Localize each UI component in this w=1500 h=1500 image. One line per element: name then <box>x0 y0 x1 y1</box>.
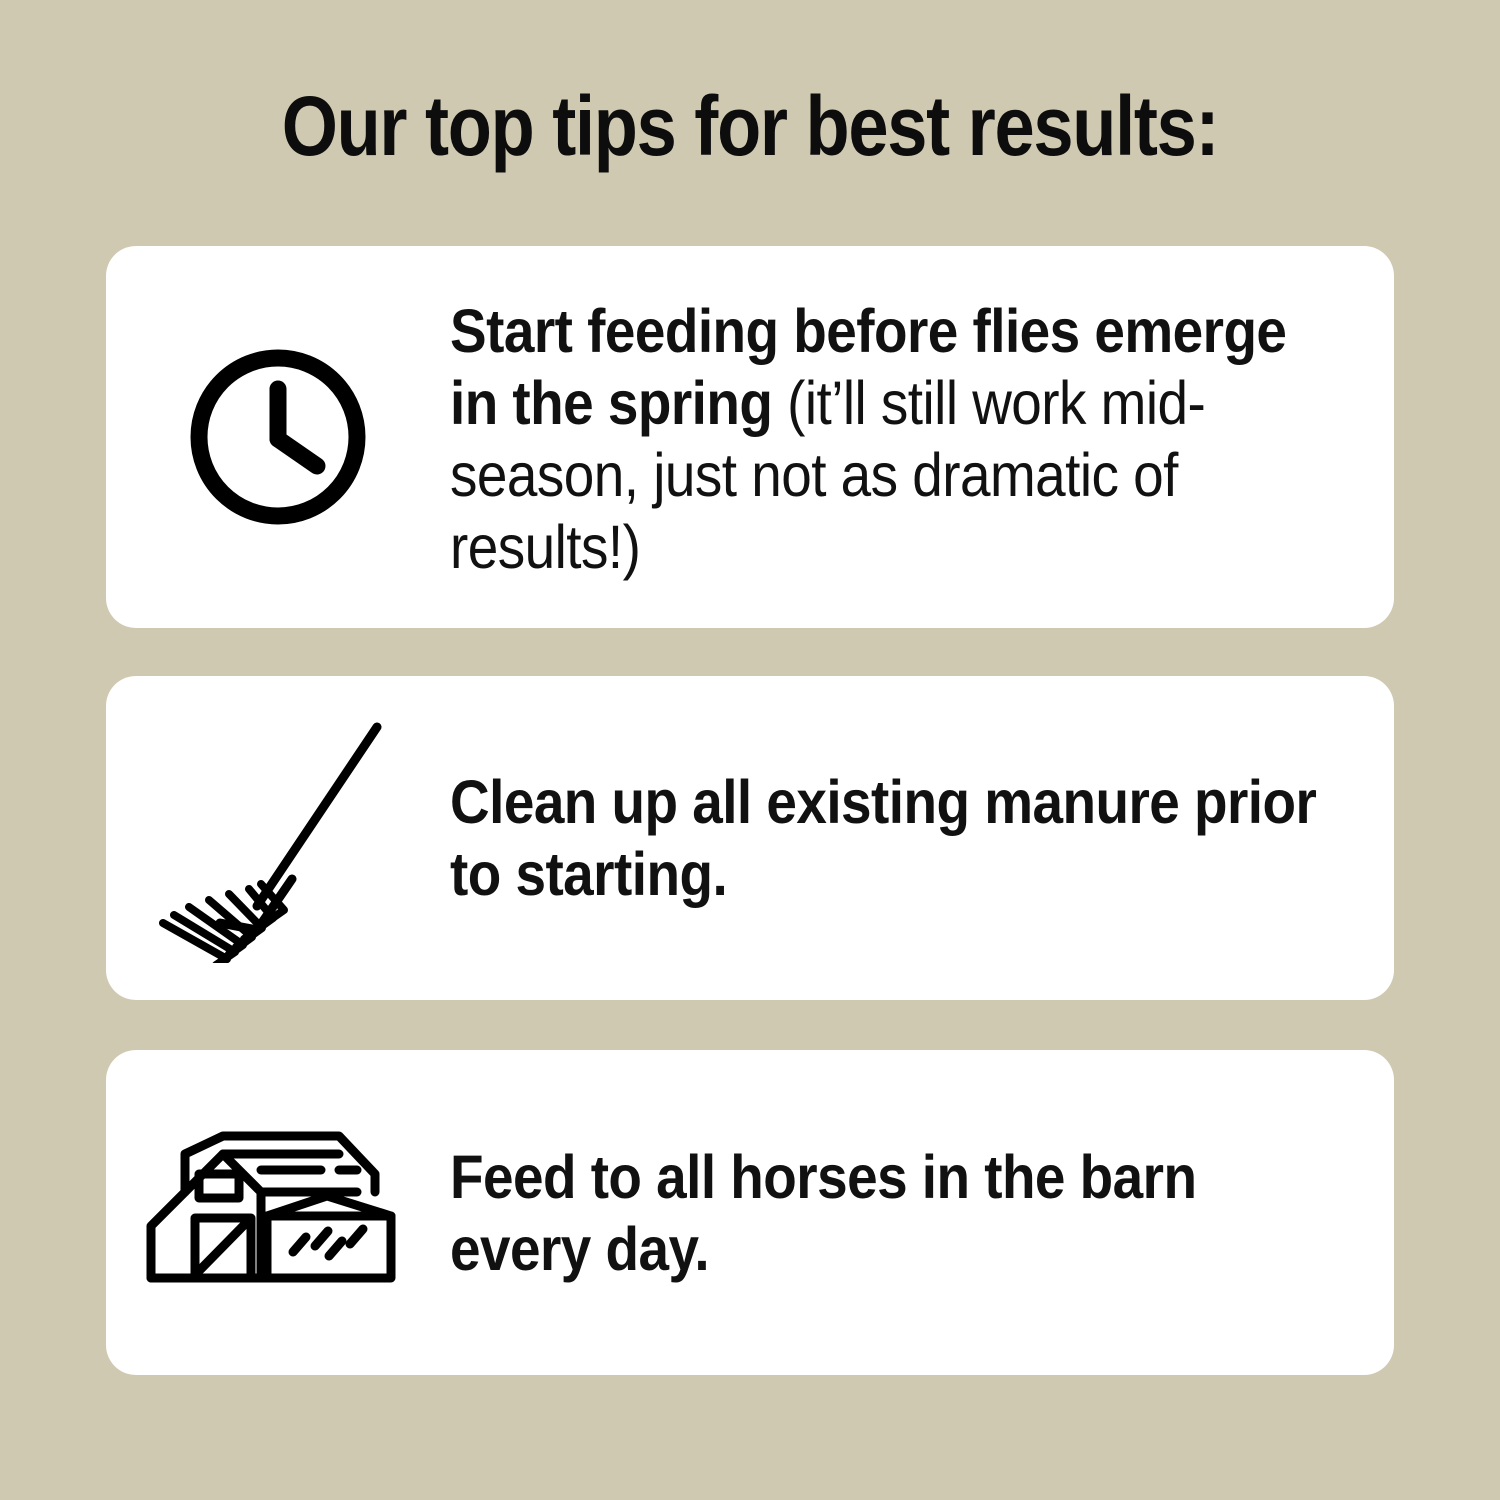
barn-icon <box>143 1130 413 1295</box>
tip-text-1: Start feeding before flies emerge in the… <box>450 295 1347 583</box>
page-root: Our top tips for best results: Start fee… <box>0 0 1500 1500</box>
tip-card-3: Feed to all horses in the barn every day… <box>106 1050 1394 1375</box>
clock-icon <box>183 342 373 532</box>
tip-text-3-bold: Feed to all horses in the barn every day… <box>450 1143 1196 1283</box>
page-title: Our top tips for best results: <box>105 78 1395 174</box>
tip-icon-container-2 <box>106 676 450 1000</box>
tip-text-container-2: Clean up all existing manure prior to st… <box>450 766 1394 910</box>
tip-card-1: Start feeding before flies emerge in the… <box>106 246 1394 628</box>
tip-text-2-bold: Clean up all existing manure prior to st… <box>450 768 1316 908</box>
tip-text-container-1: Start feeding before flies emerge in the… <box>450 291 1394 583</box>
tip-text-2: Clean up all existing manure prior to st… <box>450 766 1347 910</box>
tip-icon-container-3 <box>106 1050 450 1375</box>
tip-text-container-3: Feed to all horses in the barn every day… <box>450 1141 1394 1285</box>
rake-icon <box>153 713 403 963</box>
tip-icon-container-1 <box>106 246 450 628</box>
tip-text-3: Feed to all horses in the barn every day… <box>450 1141 1347 1285</box>
tip-card-2: Clean up all existing manure prior to st… <box>106 676 1394 1000</box>
